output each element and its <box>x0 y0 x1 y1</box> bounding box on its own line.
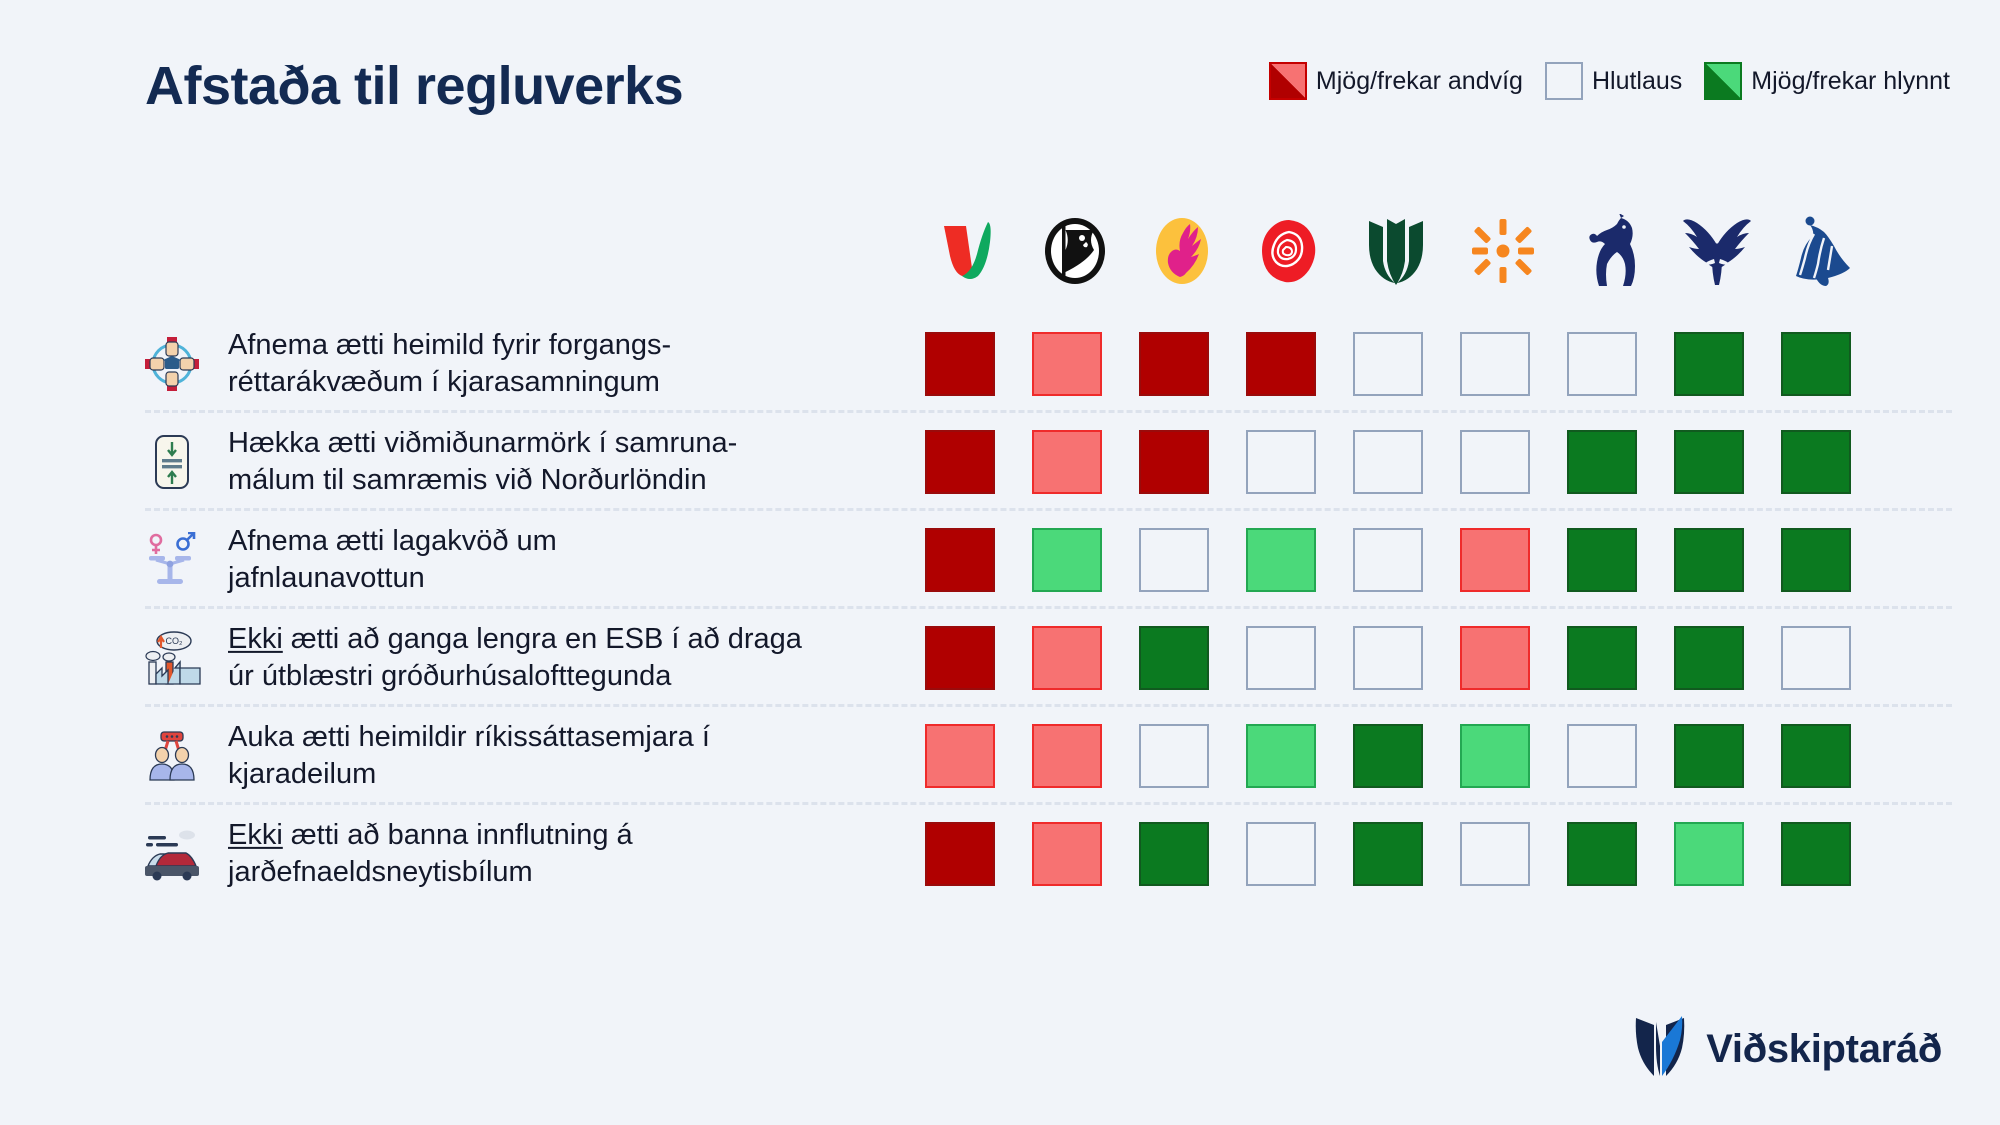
row-label: Ekki ætti að banna innflutning á jarðefn… <box>228 817 633 891</box>
matrix-cell <box>1032 430 1102 494</box>
gender-pay-scales-icon <box>142 530 202 590</box>
matrix-cell <box>1139 332 1209 396</box>
legend-label-favour: Mjög/frekar hlynnt <box>1751 67 1950 96</box>
vidreisn-v-logo-icon <box>936 216 1000 286</box>
matrix-cell <box>1781 332 1851 396</box>
matrix-cell <box>1353 822 1423 886</box>
flokkur-folksins-hand-logo-icon <box>1150 215 1214 287</box>
matrix-cell <box>1674 430 1744 494</box>
framsokn-starburst-logo-icon <box>1471 218 1535 284</box>
matrix-cell <box>1032 822 1102 886</box>
row-label-line2: jarðefnaeldsneytisbílum <box>228 856 533 888</box>
matrix-cell <box>1781 430 1851 494</box>
legend-label-neutral: Hlutlaus <box>1592 67 1682 96</box>
brand-footer: Viðskiptaráð <box>1632 1016 1942 1083</box>
legend-item-favour: Mjög/frekar hlynnt <box>1704 62 1950 100</box>
matrix-cell <box>925 724 995 788</box>
table-row: Ekki ætti að banna innflutning á jarðefn… <box>0 805 2000 903</box>
matrix-cell <box>1781 724 1851 788</box>
matrix-cell <box>1032 528 1102 592</box>
lydraedisflokkurinn-bell-logo-icon <box>1794 214 1854 288</box>
union-hands-icon <box>142 334 202 394</box>
page-title: Afstaða til regluverks <box>145 55 683 117</box>
party-header-row <box>925 205 1866 297</box>
matrix-cell <box>1139 822 1209 886</box>
matrix-cell <box>1460 430 1530 494</box>
matrix-cell <box>925 332 995 396</box>
row-label-line2: málum til samræmis við Norðurlöndin <box>228 464 707 496</box>
party-column-piratar <box>1032 205 1117 297</box>
matrix-cell <box>1246 430 1316 494</box>
legend-label-against: Mjög/frekar andvíg <box>1316 67 1523 96</box>
matrix-cell <box>1460 822 1530 886</box>
party-column-sjalfstaedisflokkurinn <box>1674 205 1759 297</box>
infographic-page: Afstaða til regluverks Mjög/frekar andví… <box>0 0 2000 1125</box>
sjalfstaedisflokkurinn-falcon-logo-icon <box>1681 215 1753 287</box>
matrix-cell <box>1139 724 1209 788</box>
vidskiptarad-leaf-logo-icon <box>1632 1016 1688 1083</box>
party-column-midflokkurinn <box>1567 205 1652 297</box>
row-cells <box>925 332 1851 396</box>
matrix-cell <box>1567 822 1637 886</box>
matrix-cell <box>1139 528 1209 592</box>
matrix-cell <box>1246 626 1316 690</box>
matrix-cell <box>1567 528 1637 592</box>
midflokkurinn-horse-logo-icon <box>1577 214 1643 288</box>
matrix-cell <box>1032 332 1102 396</box>
svg-text:CO₂: CO₂ <box>166 636 184 646</box>
merger-threshold-icon <box>142 432 202 492</box>
party-column-samfylkingin <box>1246 205 1331 297</box>
matrix-cell <box>1674 332 1744 396</box>
matrix-cell <box>1353 626 1423 690</box>
outline-swatch-icon <box>1545 62 1583 100</box>
row-cells <box>925 528 1851 592</box>
row-label: Ekki ætti að ganga lengra en ESB í að dr… <box>228 621 802 695</box>
matrix-rows: Afnema ætti heimild fyrir forgangs- rétt… <box>0 315 2000 903</box>
row-cells <box>925 822 1851 886</box>
fossil-fuel-cars-icon <box>142 824 202 884</box>
row-label-line1: Afnema ætti heimild fyrir forgangs- <box>228 329 671 361</box>
legend-item-against: Mjög/frekar andvíg <box>1269 62 1523 100</box>
matrix-cell <box>1353 332 1423 396</box>
matrix-cell <box>1246 822 1316 886</box>
row-label-line2: jafnlaunavottun <box>228 562 425 594</box>
party-column-lydraedisflokkurinn <box>1781 205 1866 297</box>
row-label-line1: ætti að banna innflutning á <box>283 819 633 851</box>
matrix-cell <box>1674 626 1744 690</box>
table-row: Afnema ætti lagakvöð um jafnlaunavottun <box>0 511 2000 609</box>
matrix-cell <box>1353 724 1423 788</box>
party-column-flokkur-folksins <box>1139 205 1224 297</box>
row-label: Afnema ætti lagakvöð um jafnlaunavottun <box>228 523 557 597</box>
matrix-cell <box>1032 724 1102 788</box>
matrix-cell <box>1567 430 1637 494</box>
matrix-cell <box>1781 528 1851 592</box>
matrix-cell <box>1567 724 1637 788</box>
matrix-cell <box>1032 626 1102 690</box>
matrix-cell <box>1781 822 1851 886</box>
party-column-framsokn <box>1460 205 1545 297</box>
row-label: Auka ætti heimildir ríkissáttasemjara í … <box>228 719 710 793</box>
matrix-cell <box>925 626 995 690</box>
matrix-cell <box>1246 528 1316 592</box>
matrix-cell <box>1674 724 1744 788</box>
table-row: Auka ætti heimildir ríkissáttasemjara í … <box>0 707 2000 805</box>
table-row: Hækka ætti viðmiðunarmörk í samruna- mál… <box>0 413 2000 511</box>
row-label-emphasis: Ekki <box>228 623 283 655</box>
party-column-vinstri-graen <box>1353 205 1438 297</box>
row-label-line1: Afnema ætti lagakvöð um <box>228 525 557 557</box>
samfylkingin-rose-logo-icon <box>1257 216 1321 286</box>
mediator-negotiation-icon <box>142 726 202 786</box>
row-label: Hækka ætti viðmiðunarmörk í samruna- mál… <box>228 425 737 499</box>
row-label-line2: réttarákvæðum í kjarasamningum <box>228 366 660 398</box>
row-label-emphasis: Ekki <box>228 819 283 851</box>
matrix-cell <box>1246 332 1316 396</box>
legend-item-neutral: Hlutlaus <box>1545 62 1682 100</box>
matrix-cell <box>1460 332 1530 396</box>
row-label-line1: Auka ætti heimildir ríkissáttasemjara í <box>228 721 710 753</box>
matrix-cell <box>1567 626 1637 690</box>
table-row: Afnema ætti heimild fyrir forgangs- rétt… <box>0 315 2000 413</box>
split-green-swatch-icon <box>1704 62 1742 100</box>
vinstri-graen-leaf-logo-icon <box>1365 215 1427 287</box>
brand-name: Viðskiptaráð <box>1706 1027 1942 1072</box>
row-cells <box>925 626 1851 690</box>
row-cells <box>925 430 1851 494</box>
row-label: Afnema ætti heimild fyrir forgangs- rétt… <box>228 327 671 401</box>
factory-emissions-icon: CO₂ <box>142 628 202 688</box>
matrix-cell <box>1674 528 1744 592</box>
matrix-cell <box>1353 430 1423 494</box>
legend: Mjög/frekar andvíg Hlutlaus Mjög/frekar … <box>1269 62 1950 100</box>
matrix-cell <box>1781 626 1851 690</box>
row-label-line1: ætti að ganga lengra en ESB í að draga <box>283 623 802 655</box>
matrix-cell <box>925 528 995 592</box>
matrix-cell <box>1460 528 1530 592</box>
row-label-line1: Hækka ætti viðmiðunarmörk í samruna- <box>228 427 737 459</box>
matrix-cell <box>925 822 995 886</box>
matrix-cell <box>1567 332 1637 396</box>
row-cells <box>925 724 1851 788</box>
matrix-cell <box>1353 528 1423 592</box>
matrix-cell <box>1460 626 1530 690</box>
matrix-cell <box>1674 822 1744 886</box>
row-label-line2: úr útblæstri gróðurhúsalofttegunda <box>228 660 671 692</box>
table-row: CO₂ Ekki ætti að ganga lengra en ESB í a… <box>0 609 2000 707</box>
matrix-cell <box>1139 626 1209 690</box>
piratar-flag-logo-icon <box>1042 216 1108 286</box>
row-label-line2: kjaradeilum <box>228 758 376 790</box>
matrix-cell <box>1139 430 1209 494</box>
split-red-swatch-icon <box>1269 62 1307 100</box>
matrix-cell <box>1460 724 1530 788</box>
matrix-cell <box>925 430 995 494</box>
matrix-cell <box>1246 724 1316 788</box>
party-column-vidreisn <box>925 205 1010 297</box>
